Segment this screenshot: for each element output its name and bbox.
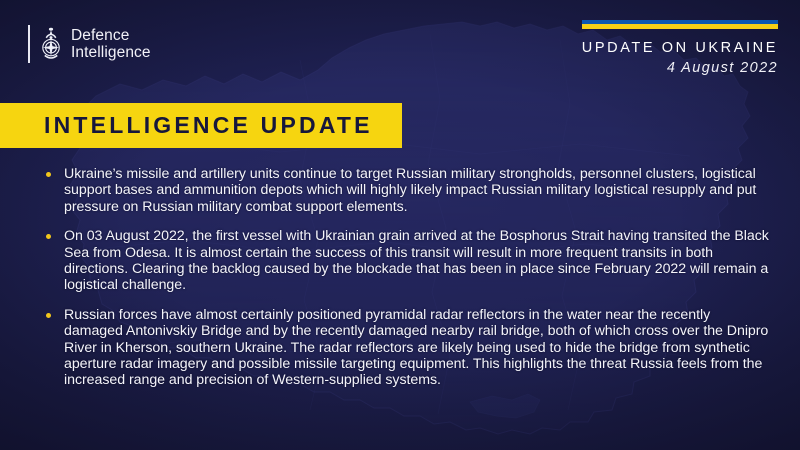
intelligence-update-banner: INTELLIGENCE UPDATE [0, 103, 402, 148]
intelligence-update-slide: Defence Intelligence UPDATE ON UKRAINE 4… [0, 0, 800, 450]
update-label: UPDATE ON UKRAINE [582, 40, 778, 56]
defence-intelligence-logo: Defence Intelligence [28, 22, 151, 66]
list-item: Russian forces have almost certainly pos… [46, 307, 772, 389]
logo-text: Defence Intelligence [71, 27, 151, 61]
logo-divider-rule [28, 25, 30, 63]
update-header-block: UPDATE ON UKRAINE 4 August 2022 [582, 20, 778, 76]
logo-line-1: Defence [71, 27, 151, 44]
bullet-list: Ukraine’s missile and artillery units co… [46, 166, 772, 389]
bullet-dot-icon [46, 166, 64, 215]
bullet-text: Ukraine’s missile and artillery units co… [64, 166, 772, 215]
bullet-text: Russian forces have almost certainly pos… [64, 307, 772, 389]
update-date: 4 August 2022 [582, 60, 778, 76]
defence-intelligence-crest-icon [39, 25, 63, 63]
logo-line-2: Intelligence [71, 44, 151, 61]
bullet-dot-icon [46, 228, 64, 294]
bullet-dot-icon [46, 307, 64, 389]
list-item: Ukraine’s missile and artillery units co… [46, 166, 772, 215]
page-title: INTELLIGENCE UPDATE [0, 112, 373, 139]
flag-yellow-stripe [582, 24, 778, 29]
ukraine-flag-icon [582, 20, 778, 29]
list-item: On 03 August 2022, the first vessel with… [46, 228, 772, 294]
bullet-text: On 03 August 2022, the first vessel with… [64, 228, 772, 294]
